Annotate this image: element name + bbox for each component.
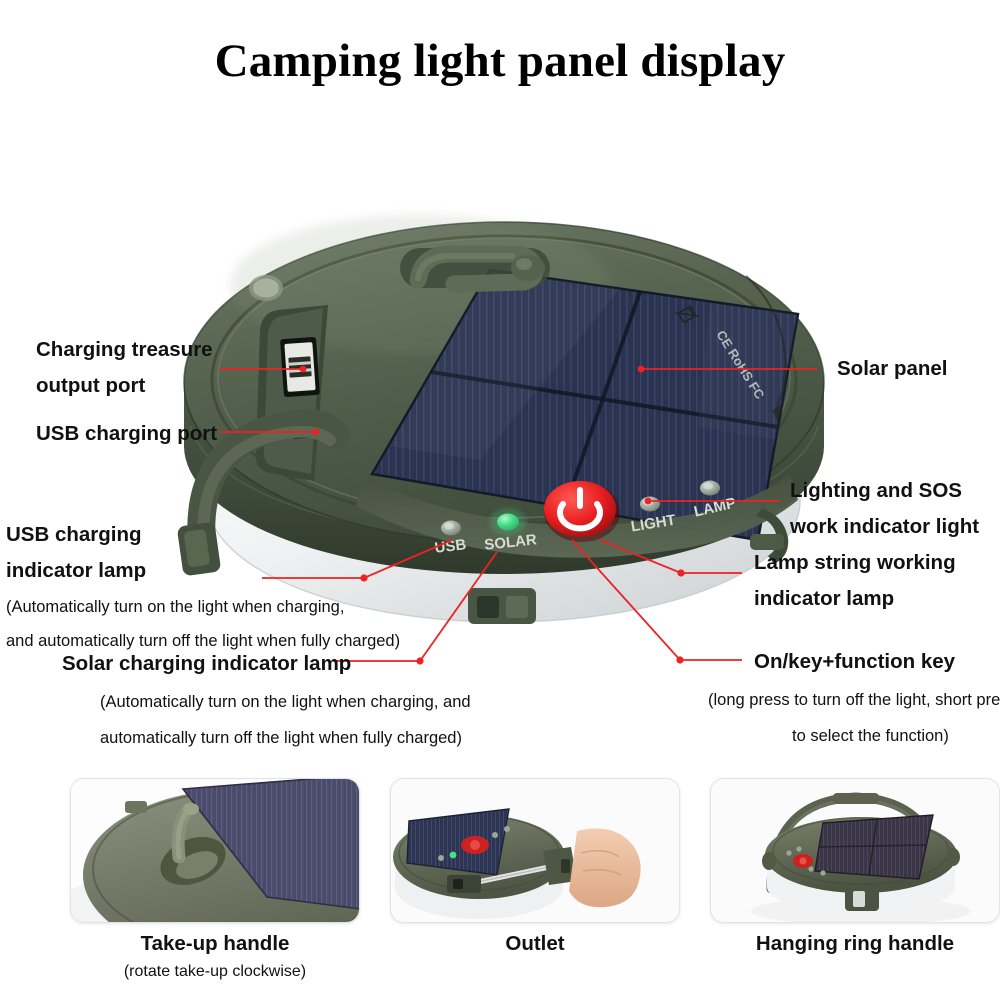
cord-outlet[interactable] — [468, 588, 536, 624]
callout-line-2: output port — [36, 372, 213, 400]
callout-line-1: USB charging — [6, 521, 400, 549]
callout-usb-charging-indicator-lamp: USB charging indicator lamp (Automatical… — [6, 521, 400, 653]
callout-usb-charging-port: USB charging port — [36, 420, 217, 448]
callout-line-2: indicator lamp — [6, 557, 400, 585]
thumbnail-image-hanging-ring-handle[interactable] — [710, 778, 1000, 923]
take-up-handle-closeup-illustration — [71, 779, 360, 923]
callout-line-1: USB charging port — [36, 420, 217, 448]
callout-note-1: (long press to turn off the light, short… — [708, 689, 1000, 712]
thumbnail-caption-hanging-ring-handle: Hanging ring handle — [710, 932, 1000, 956]
callout-line-1: Lamp string working — [754, 549, 956, 577]
callout-lighting-and-sos-work-indicator-light: Lighting and SOS work indicator light — [790, 477, 979, 542]
caption-title: Take-up handle — [70, 932, 360, 956]
thumbnail-caption-take-up-handle: Take-up handle (rotate take-up clockwise… — [70, 932, 360, 981]
thumbnail-caption-outlet: Outlet — [390, 932, 680, 956]
page-title: Camping light panel display — [0, 34, 1000, 88]
callout-note-1: (Automatically turn on the light when ch… — [100, 691, 471, 714]
callout-note-2: to select the function) — [792, 725, 1000, 748]
charging-treasure-output-port[interactable] — [280, 337, 320, 397]
callout-line-1: Solar charging indicator lamp — [62, 650, 471, 678]
thumbnail-image-take-up-handle[interactable] — [70, 778, 360, 923]
callout-line-2: indicator lamp — [754, 585, 956, 613]
callout-solar-panel: Solar panel — [837, 355, 948, 383]
callout-on-key-function-key: On/key+function key (long press to turn … — [754, 648, 1000, 748]
hanging-ring-handle-illustration — [711, 779, 1000, 923]
callout-solar-charging-indicator-lamp: Solar charging indicator lamp (Automatic… — [62, 650, 471, 750]
thumbnail-image-outlet[interactable] — [390, 778, 680, 923]
thumbnail-outlet[interactable]: Outlet — [390, 778, 680, 963]
callout-line-2: work indicator light — [790, 513, 979, 541]
caption-subtitle: (rotate take-up clockwise) — [70, 963, 360, 981]
callout-note-2: automatically turn off the light when fu… — [100, 727, 471, 750]
callout-lamp-string-working-indicator-lamp: Lamp string working indicator lamp — [754, 549, 956, 614]
callout-line-1: Solar panel — [837, 355, 948, 383]
outlet-closeup-illustration — [391, 779, 680, 923]
callout-line-1: On/key+function key — [754, 648, 1000, 676]
caption-title: Hanging ring handle — [710, 932, 1000, 956]
thumbnail-row: Take-up handle (rotate take-up clockwise… — [0, 778, 1000, 1000]
infographic-canvas: Camping light panel display — [0, 0, 1000, 1000]
caption-title: Outlet — [390, 932, 680, 956]
thumbnail-hanging-ring-handle[interactable]: Hanging ring handle — [710, 778, 1000, 963]
callout-note-1: (Automatically turn on the light when ch… — [6, 596, 400, 619]
thumbnail-take-up-handle[interactable]: Take-up handle (rotate take-up clockwise… — [70, 778, 360, 981]
hanging-ring-mount — [400, 248, 550, 288]
callout-charging-treasure-output-port: Charging treasure output port — [36, 336, 213, 401]
callout-line-1: Charging treasure — [36, 336, 213, 364]
callout-line-1: Lighting and SOS — [790, 477, 979, 505]
